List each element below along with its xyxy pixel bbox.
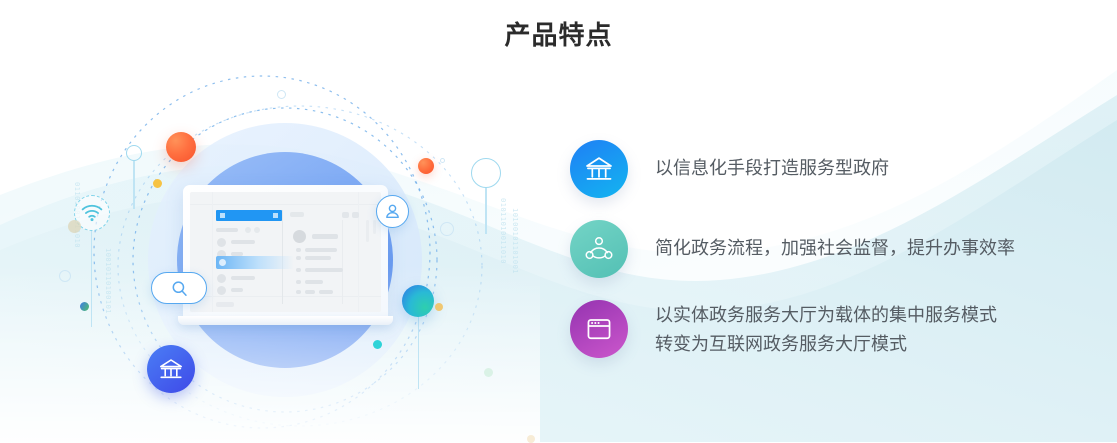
bank-icon bbox=[584, 155, 614, 183]
decor-ring-d bbox=[440, 158, 445, 163]
binary-decoration-3: 01011010011010 bbox=[499, 198, 507, 264]
sphere-khaki bbox=[68, 220, 81, 233]
search-icon bbox=[171, 280, 188, 297]
feature-text-1: 以信息化手段打造服务型政府 bbox=[655, 140, 889, 183]
bank-badge[interactable] bbox=[147, 345, 195, 393]
feature-text-2: 简化政务流程，加强社会监督，提升办事效率 bbox=[655, 220, 1015, 263]
user-icon bbox=[384, 203, 401, 220]
sphere-green-small bbox=[484, 368, 493, 377]
page-title: 产品特点 bbox=[0, 18, 1117, 52]
feature-icon-bank bbox=[570, 140, 628, 198]
bank-icon bbox=[158, 357, 184, 381]
feature-item-2[interactable]: 简化政务流程，加强社会监督，提升办事效率 bbox=[570, 220, 1090, 278]
binary-decoration-2: 10010110100101 bbox=[104, 248, 112, 314]
product-illustration: 01101001011010 10010110100101 0101101001… bbox=[0, 70, 540, 442]
mock-avatar bbox=[293, 230, 306, 243]
laptop-mockup bbox=[178, 185, 393, 330]
sphere-yellow-two bbox=[435, 303, 443, 311]
decor-ring-c bbox=[440, 222, 454, 236]
feature-list: 以信息化手段打造服务型政府 简化政务流程，加强社会监督，提升办事效率 以实体政务 bbox=[570, 140, 1090, 381]
search-badge[interactable] bbox=[151, 272, 207, 304]
laptop-lid bbox=[183, 185, 388, 318]
laptop-base bbox=[178, 316, 393, 325]
user-badge[interactable] bbox=[376, 195, 409, 228]
mock-header-bar bbox=[216, 210, 282, 221]
ring-stem-teal bbox=[418, 317, 420, 389]
feature-item-1[interactable]: 以信息化手段打造服务型政府 bbox=[570, 140, 1090, 198]
feature-text-3: 以实体政务服务大厅为载体的集中服务模式 转变为互联网政务服务大厅模式 bbox=[655, 300, 997, 359]
feature-icon-share bbox=[570, 220, 628, 278]
sphere-yellow-one bbox=[153, 179, 162, 188]
share-network-icon bbox=[584, 234, 614, 264]
wifi-icon bbox=[81, 204, 103, 222]
sphere-cyan-small bbox=[373, 340, 382, 349]
sphere-teal-blue bbox=[402, 285, 434, 317]
browser-window-icon bbox=[585, 315, 613, 343]
ring-stem-right bbox=[471, 158, 501, 234]
decor-ring-a bbox=[59, 270, 71, 282]
sphere-multicolor bbox=[80, 302, 89, 311]
laptop-screen bbox=[190, 192, 381, 312]
sphere-orange-small bbox=[418, 158, 434, 174]
binary-decoration-4: 10100101101001 bbox=[511, 208, 519, 274]
mock-selected-row bbox=[216, 256, 294, 269]
ring-stem-left bbox=[126, 145, 142, 209]
sphere-orange-large bbox=[166, 132, 196, 162]
feature-icon-browser bbox=[570, 300, 628, 358]
ring-stem-wifi bbox=[91, 231, 93, 327]
decor-ring-b bbox=[277, 90, 286, 99]
feature-item-3[interactable]: 以实体政务服务大厅为载体的集中服务模式 转变为互联网政务服务大厅模式 bbox=[570, 300, 1090, 359]
